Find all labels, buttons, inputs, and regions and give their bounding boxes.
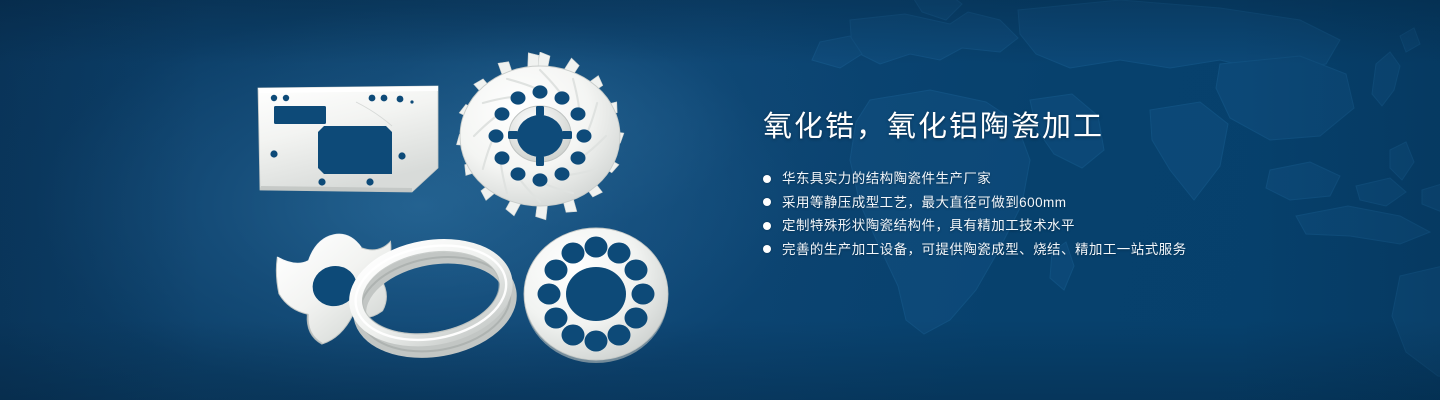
- feature-list-item: 定制特殊形状陶瓷结构件，具有精加工技术水平: [763, 217, 1383, 234]
- feature-text: 定制特殊形状陶瓷结构件，具有精加工技术水平: [782, 217, 1075, 234]
- feature-list-item: 华东具实力的结构陶瓷件生产厂家: [763, 170, 1383, 187]
- feature-list-item: 采用等静压成型工艺，最大直径可做到600mm: [763, 194, 1383, 211]
- ceramic-perforated-disc-image: [518, 224, 674, 366]
- ceramic-machined-plate-image: [252, 82, 442, 194]
- feature-list-item: 完善的生产加工设备，可提供陶瓷成型、烧结、精加工一站式服务: [763, 241, 1383, 258]
- ceramic-ring-image: [345, 228, 525, 358]
- ceramic-processing-banner: 氧化锆，氧化铝陶瓷加工 华东具实力的结构陶瓷件生产厂家 采用等静压成型工艺，最大…: [0, 0, 1440, 400]
- bullet-dot-icon: [763, 245, 771, 253]
- feature-text: 采用等静压成型工艺，最大直径可做到600mm: [782, 194, 1066, 211]
- banner-text-block: 氧化锆，氧化铝陶瓷加工 华东具实力的结构陶瓷件生产厂家 采用等静压成型工艺，最大…: [763, 108, 1383, 274]
- bullet-dot-icon: [763, 198, 771, 206]
- bullet-dot-icon: [763, 175, 771, 183]
- banner-heading: 氧化锆，氧化铝陶瓷加工: [763, 108, 1383, 146]
- feature-text: 完善的生产加工设备，可提供陶瓷成型、烧结、精加工一站式服务: [782, 241, 1187, 258]
- feature-list: 华东具实力的结构陶瓷件生产厂家 采用等静压成型工艺，最大直径可做到600mm 定…: [763, 170, 1383, 258]
- bullet-dot-icon: [763, 222, 771, 230]
- ceramic-impeller-disc-image: [450, 52, 630, 224]
- feature-text: 华东具实力的结构陶瓷件生产厂家: [782, 170, 991, 187]
